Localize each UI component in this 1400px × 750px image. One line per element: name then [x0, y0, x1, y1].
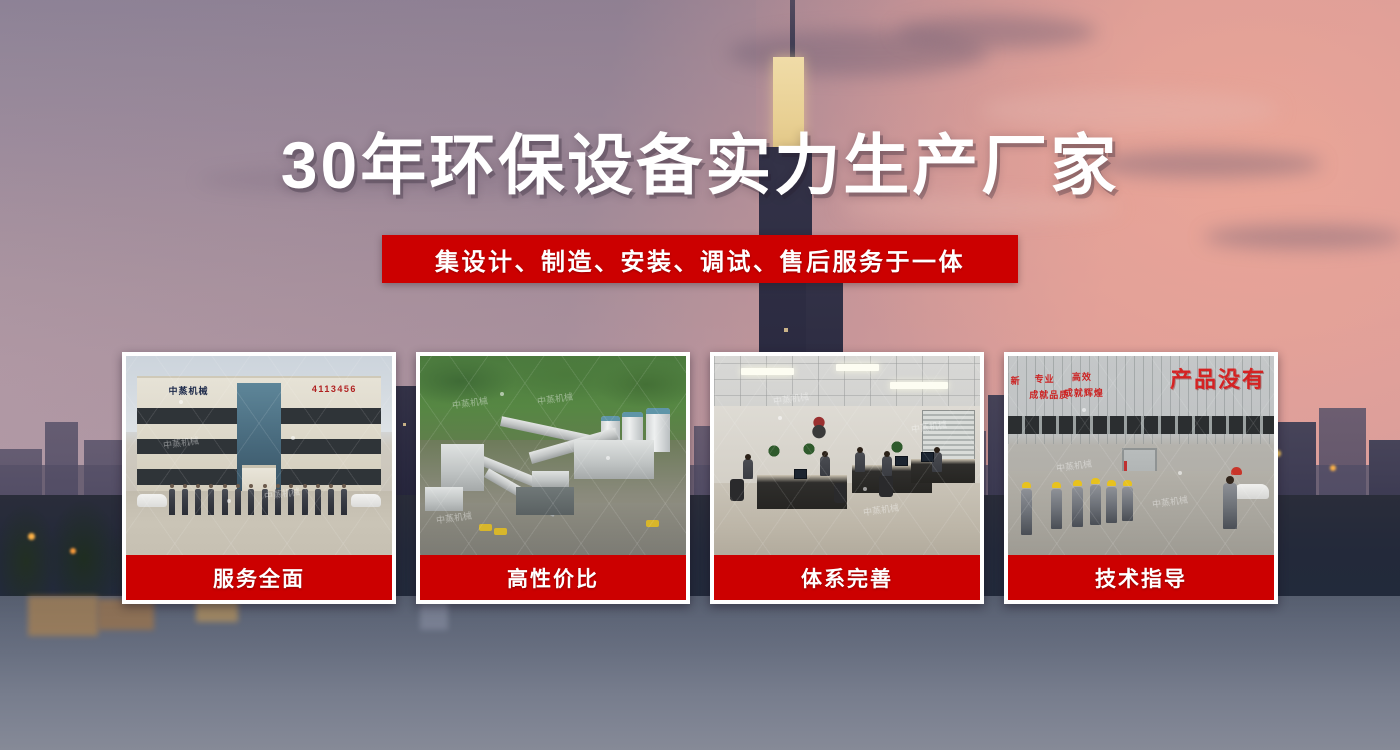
subtitle-banner: 集设计、制造、安装、调试、售后服务于一体	[382, 235, 1018, 283]
river-water	[0, 596, 1400, 750]
feature-card[interactable]: 中蒸机械 中蒸机械 中蒸机械 体系完善	[710, 352, 984, 604]
page-title: 30年环保设备实力生产厂家	[0, 131, 1400, 200]
factory-wall-slogan: 产品没有	[1170, 362, 1266, 394]
feature-card[interactable]: 产品没有 新 专业 成就品质 高效 成就辉煌	[1004, 352, 1278, 604]
feature-card[interactable]: 中蒸机械 中蒸机械 中蒸机械 高性价比	[416, 352, 690, 604]
factory-wall-slogan-left: 新	[1011, 376, 1021, 387]
aerial-plant-photo: 中蒸机械 中蒸机械 中蒸机械	[420, 356, 686, 555]
street-light	[70, 548, 76, 554]
factory-wall-slogan-item: 高效	[1072, 372, 1092, 383]
promo-banner: 30年环保设备实力生产厂家 集设计、制造、安装、调试、售后服务于一体 中蒸机械 …	[0, 0, 1400, 750]
feature-card[interactable]: 中蒸机械 4113456	[122, 352, 396, 604]
factory-wall-slogan-item: 专业	[1035, 374, 1055, 385]
parked-car	[1235, 484, 1269, 499]
subtitle-text: 集设计、制造、安装、调试、售后服务于一体	[435, 242, 965, 277]
red-helmet	[1231, 467, 1242, 475]
feature-card-caption: 高性价比	[420, 555, 686, 600]
feature-card-caption: 技术指导	[1008, 555, 1274, 600]
office-interior-photo: 中蒸机械 中蒸机械 中蒸机械	[714, 356, 980, 555]
feature-card-caption: 体系完善	[714, 555, 980, 600]
street-light	[28, 533, 35, 540]
cloud	[896, 15, 1096, 49]
feature-card-caption: 服务全面	[126, 555, 392, 600]
building-sign-phone: 4113456	[312, 384, 357, 394]
street-light	[1330, 465, 1336, 471]
feature-card-list: 中蒸机械 4113456	[122, 352, 1278, 604]
building-sign-text: 中蒸机械	[168, 384, 208, 397]
factory-wall-slogan-item: 成就辉煌	[1064, 388, 1104, 399]
company-headquarters-photo: 中蒸机械 4113456	[126, 356, 392, 555]
supervisor-figure	[1223, 483, 1237, 529]
cloud	[1204, 225, 1400, 249]
workshop-training-photo: 产品没有 新 专业 成就品质 高效 成就辉煌	[1008, 356, 1274, 555]
wall-decal	[804, 416, 834, 442]
cloud	[980, 90, 1280, 130]
